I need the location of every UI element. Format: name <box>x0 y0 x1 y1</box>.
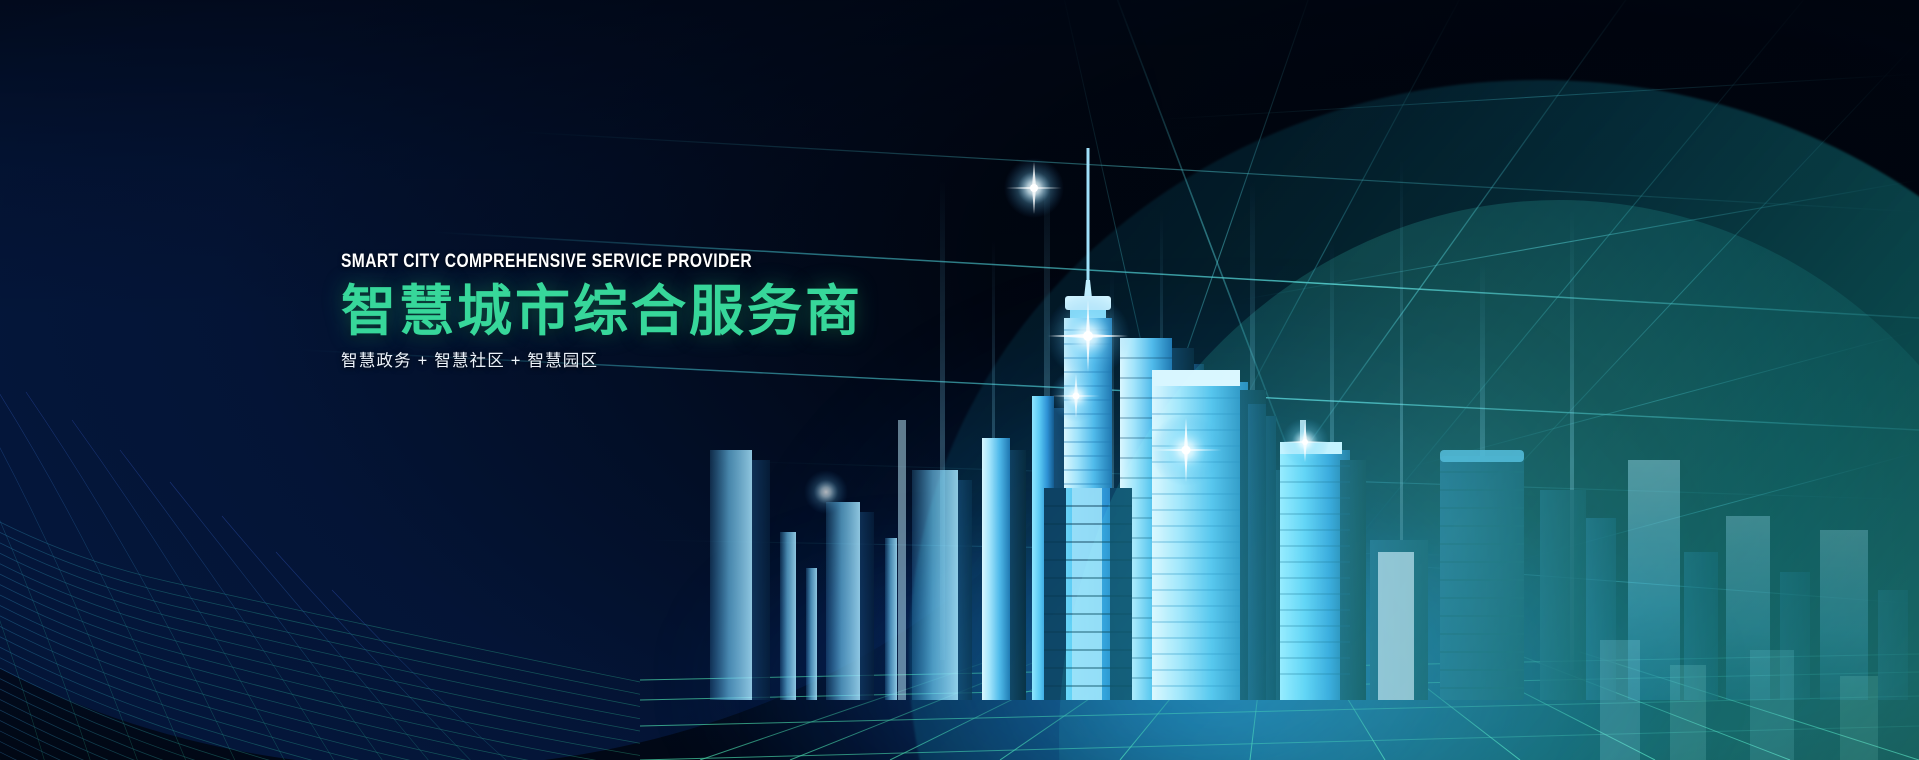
page-title: 智慧城市综合服务商 <box>341 282 863 341</box>
city-skyline-illustration <box>640 120 1919 760</box>
hero-eyebrow: SMART CITY COMPREHENSIVE SERVICE PROVIDE… <box>341 252 759 272</box>
hero-copy-block: SMART CITY COMPREHENSIVE SERVICE PROVIDE… <box>341 252 863 369</box>
hero-banner: SMART CITY COMPREHENSIVE SERVICE PROVIDE… <box>0 0 1919 760</box>
hero-subtitle: 智慧政务 + 智慧社区 + 智慧园区 <box>341 353 863 370</box>
